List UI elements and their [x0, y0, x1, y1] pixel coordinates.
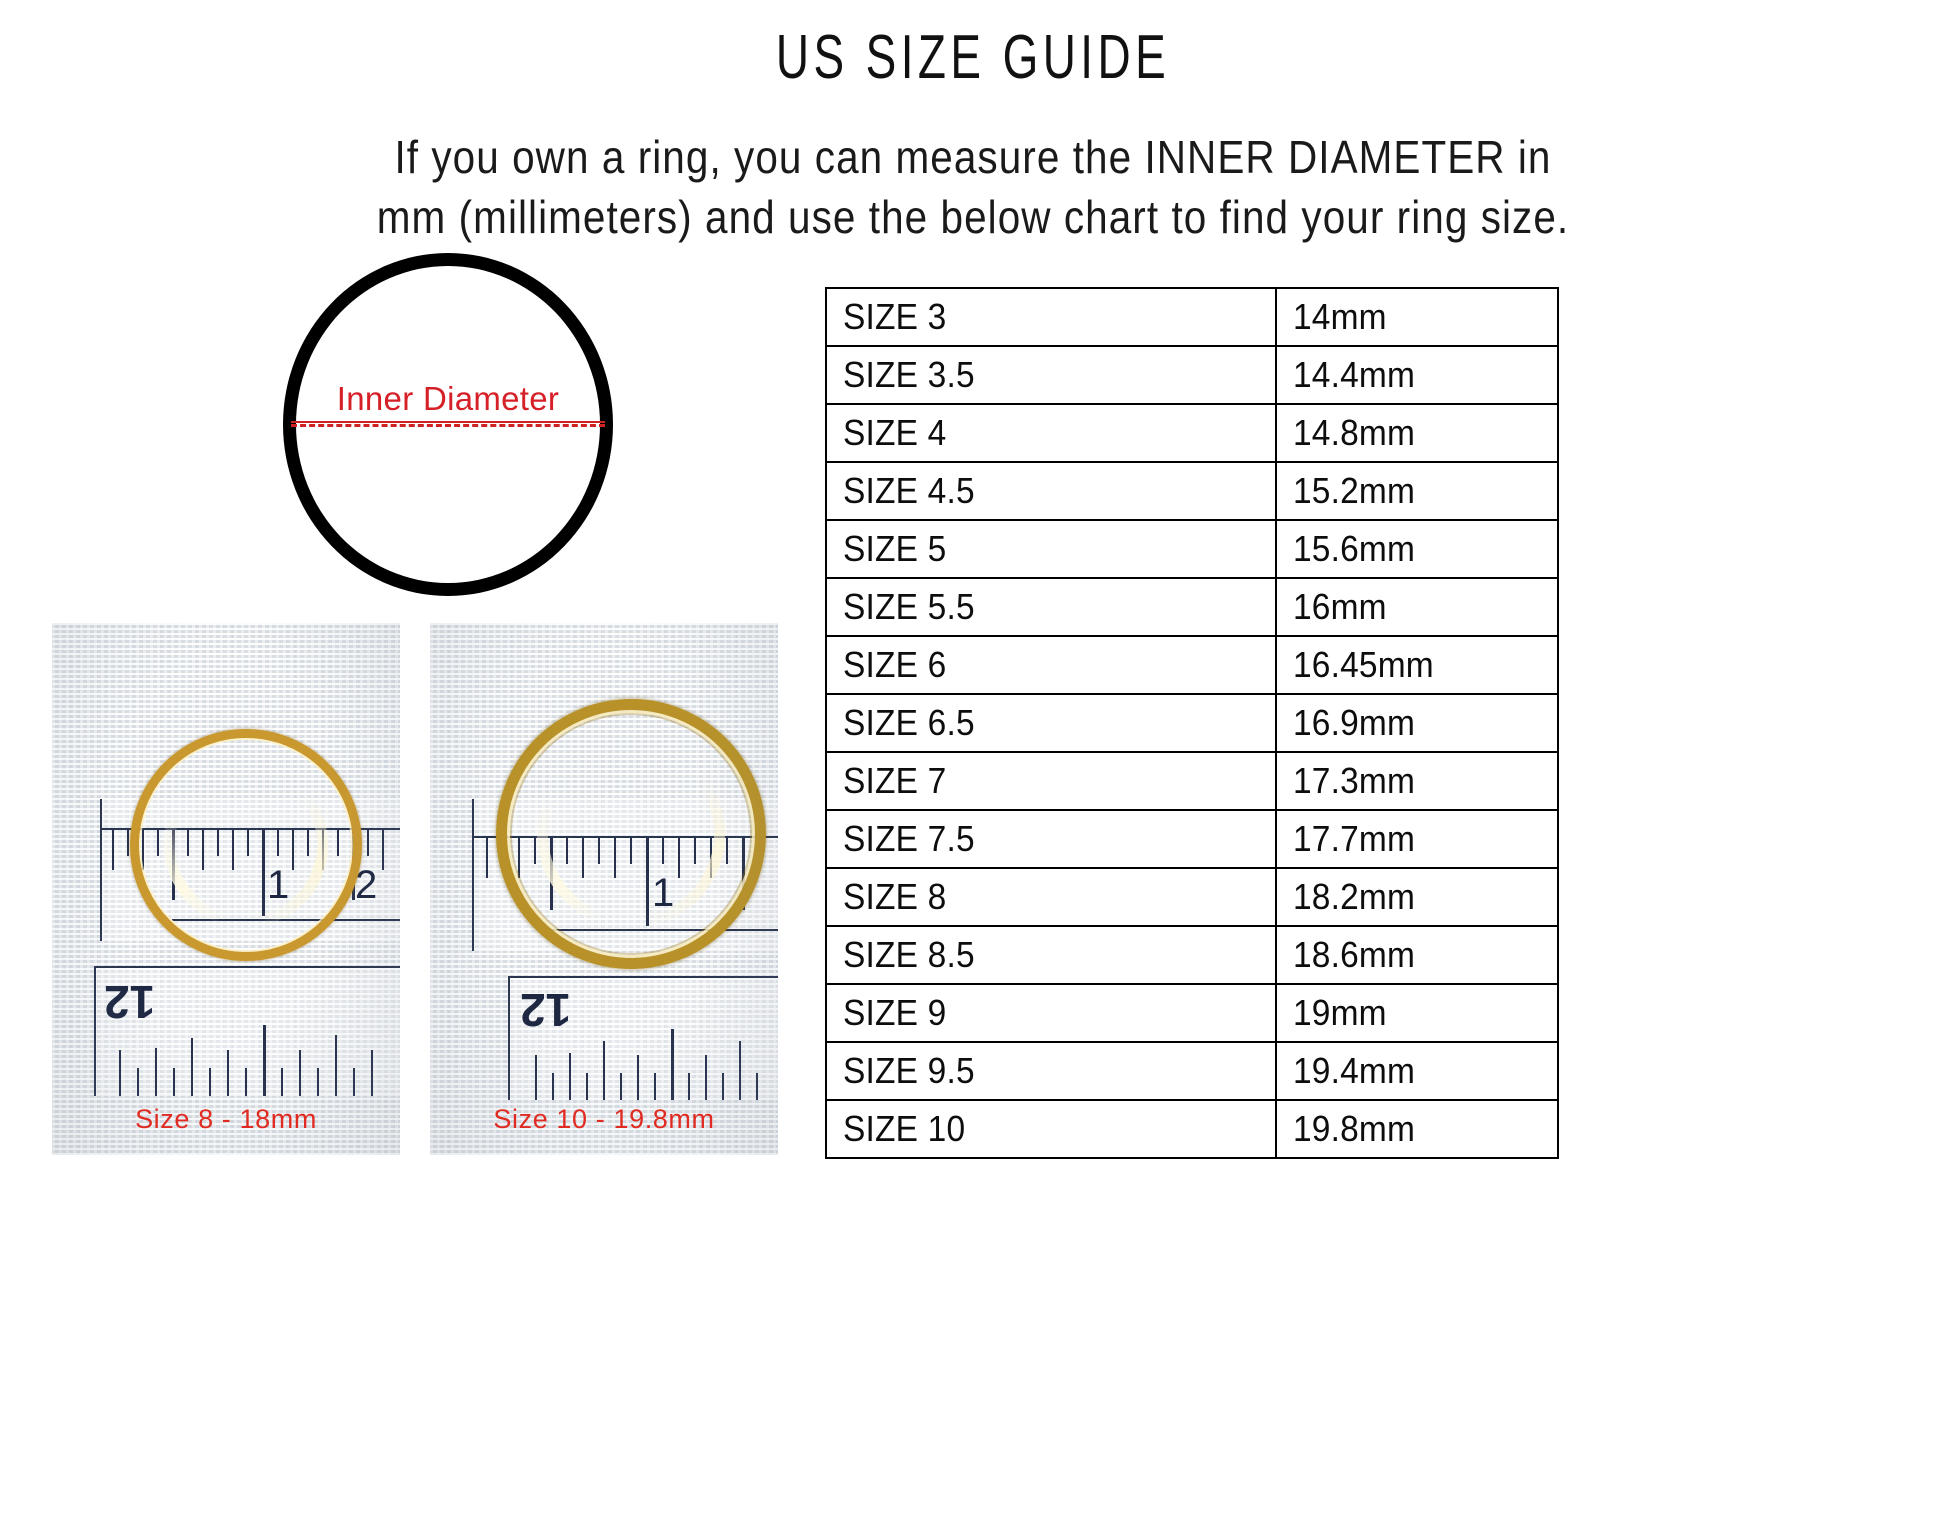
size-guide-page: US SIZE GUIDE If you own a ring, you can…	[0, 0, 1946, 1518]
table-row: SIZE 8.518.6mm	[826, 926, 1558, 984]
caption-size-8: Size 8 - 18mm	[52, 1104, 400, 1135]
inner-diameter-value: 19mm	[1293, 992, 1387, 1034]
ring-size-value: SIZE 5	[843, 528, 946, 570]
table-row: SIZE 7.517.7mm	[826, 810, 1558, 868]
cell-ring-size: SIZE 4	[826, 404, 1276, 462]
cell-inner-diameter: 16mm	[1276, 578, 1558, 636]
inner-diameter-value: 19.8mm	[1293, 1108, 1415, 1150]
inner-diameter-value: 19.4mm	[1293, 1050, 1415, 1092]
cell-ring-size: SIZE 3.5	[826, 346, 1276, 404]
ring-size-value: SIZE 9.5	[843, 1050, 975, 1092]
table-row: SIZE 4.515.2mm	[826, 462, 1558, 520]
inner-diameter-value: 14.4mm	[1293, 354, 1415, 396]
subtitle-line-2: mm (millimeters) and use the below chart…	[117, 188, 1829, 248]
inner-diameter-value: 15.6mm	[1293, 528, 1415, 570]
inner-diameter-value: 15.2mm	[1293, 470, 1415, 512]
table-row: SIZE 616.45mm	[826, 636, 1558, 694]
ring-size-value: SIZE 10	[843, 1108, 965, 1150]
cell-ring-size: SIZE 7.5	[826, 810, 1276, 868]
ring-size-value: SIZE 8.5	[843, 934, 975, 976]
cell-ring-size: SIZE 7	[826, 752, 1276, 810]
cell-inner-diameter: 14.8mm	[1276, 404, 1558, 462]
ring-size-value: SIZE 9	[843, 992, 946, 1034]
cell-ring-size: SIZE 4.5	[826, 462, 1276, 520]
ring-size-value: SIZE 7.5	[843, 818, 975, 860]
table-row: SIZE 414.8mm	[826, 404, 1558, 462]
cell-ring-size: SIZE 5.5	[826, 578, 1276, 636]
ring-size-value: SIZE 6.5	[843, 702, 975, 744]
inner-diameter-value: 16.9mm	[1293, 702, 1415, 744]
cell-inner-diameter: 19.8mm	[1276, 1100, 1558, 1158]
cell-inner-diameter: 19mm	[1276, 984, 1558, 1042]
cell-inner-diameter: 18.2mm	[1276, 868, 1558, 926]
diameter-line-dashed	[291, 424, 605, 427]
table-row: SIZE 5.516mm	[826, 578, 1558, 636]
cell-inner-diameter: 15.2mm	[1276, 462, 1558, 520]
page-title: US SIZE GUIDE	[253, 22, 1693, 93]
page-subtitle: If you own a ring, you can measure the I…	[117, 128, 1829, 248]
cell-inner-diameter: 16.9mm	[1276, 694, 1558, 752]
cell-inner-diameter: 15.6mm	[1276, 520, 1558, 578]
cell-ring-size: SIZE 5	[826, 520, 1276, 578]
ring-size-value: SIZE 5.5	[843, 586, 975, 628]
inner-diameter-diagram: Inner Diameter	[283, 253, 613, 596]
table-row: SIZE 1019.8mm	[826, 1100, 1558, 1158]
inner-diameter-value: 18.6mm	[1293, 934, 1415, 976]
table-row: SIZE 717.3mm	[826, 752, 1558, 810]
ring-size-value: SIZE 4.5	[843, 470, 975, 512]
cell-ring-size: SIZE 6.5	[826, 694, 1276, 752]
inner-diameter-value: 18.2mm	[1293, 876, 1415, 918]
table-row: SIZE 818.2mm	[826, 868, 1558, 926]
cell-ring-size: SIZE 3	[826, 288, 1276, 346]
cell-inner-diameter: 17.7mm	[1276, 810, 1558, 868]
cell-ring-size: SIZE 8.5	[826, 926, 1276, 984]
inner-diameter-value: 17.3mm	[1293, 760, 1415, 802]
ring-size-table: SIZE 314mmSIZE 3.514.4mmSIZE 414.8mmSIZE…	[825, 287, 1559, 1159]
ring-size-value: SIZE 4	[843, 412, 946, 454]
inner-diameter-label: Inner Diameter	[283, 380, 613, 418]
cell-ring-size: SIZE 8	[826, 868, 1276, 926]
ring-size-value: SIZE 3.5	[843, 354, 975, 396]
table-row: SIZE 6.516.9mm	[826, 694, 1558, 752]
table-row: SIZE 314mm	[826, 288, 1558, 346]
caption-size-10: Size 10 - 19.8mm	[430, 1104, 778, 1135]
cell-inner-diameter: 17.3mm	[1276, 752, 1558, 810]
inner-diameter-value: 16mm	[1293, 586, 1387, 628]
photo-vignette-left	[52, 623, 400, 1155]
ring-size-value: SIZE 7	[843, 760, 946, 802]
cell-inner-diameter: 18.6mm	[1276, 926, 1558, 984]
photo-size-10: 1 12 Size 10 - 19.8mm	[430, 623, 778, 1155]
photo-vignette-right	[430, 623, 778, 1155]
inner-diameter-value: 16.45mm	[1293, 644, 1434, 686]
table-row: SIZE 515.6mm	[826, 520, 1558, 578]
cell-inner-diameter: 19.4mm	[1276, 1042, 1558, 1100]
inner-diameter-value: 14.8mm	[1293, 412, 1415, 454]
photo-size-8: 1 2 12 Size 8 - 18mm	[52, 623, 400, 1155]
cell-ring-size: SIZE 10	[826, 1100, 1276, 1158]
cell-ring-size: SIZE 9	[826, 984, 1276, 1042]
table-row: SIZE 919mm	[826, 984, 1558, 1042]
cell-inner-diameter: 14mm	[1276, 288, 1558, 346]
cell-ring-size: SIZE 6	[826, 636, 1276, 694]
cell-inner-diameter: 14.4mm	[1276, 346, 1558, 404]
inner-diameter-value: 14mm	[1293, 296, 1387, 338]
cell-inner-diameter: 16.45mm	[1276, 636, 1558, 694]
cell-ring-size: SIZE 9.5	[826, 1042, 1276, 1100]
subtitle-line-1: If you own a ring, you can measure the I…	[117, 128, 1829, 188]
ring-size-value: SIZE 8	[843, 876, 946, 918]
ring-size-value: SIZE 6	[843, 644, 946, 686]
table-row: SIZE 3.514.4mm	[826, 346, 1558, 404]
table-row: SIZE 9.519.4mm	[826, 1042, 1558, 1100]
diameter-line-solid	[291, 421, 605, 423]
ring-size-value: SIZE 3	[843, 296, 946, 338]
inner-diameter-value: 17.7mm	[1293, 818, 1415, 860]
